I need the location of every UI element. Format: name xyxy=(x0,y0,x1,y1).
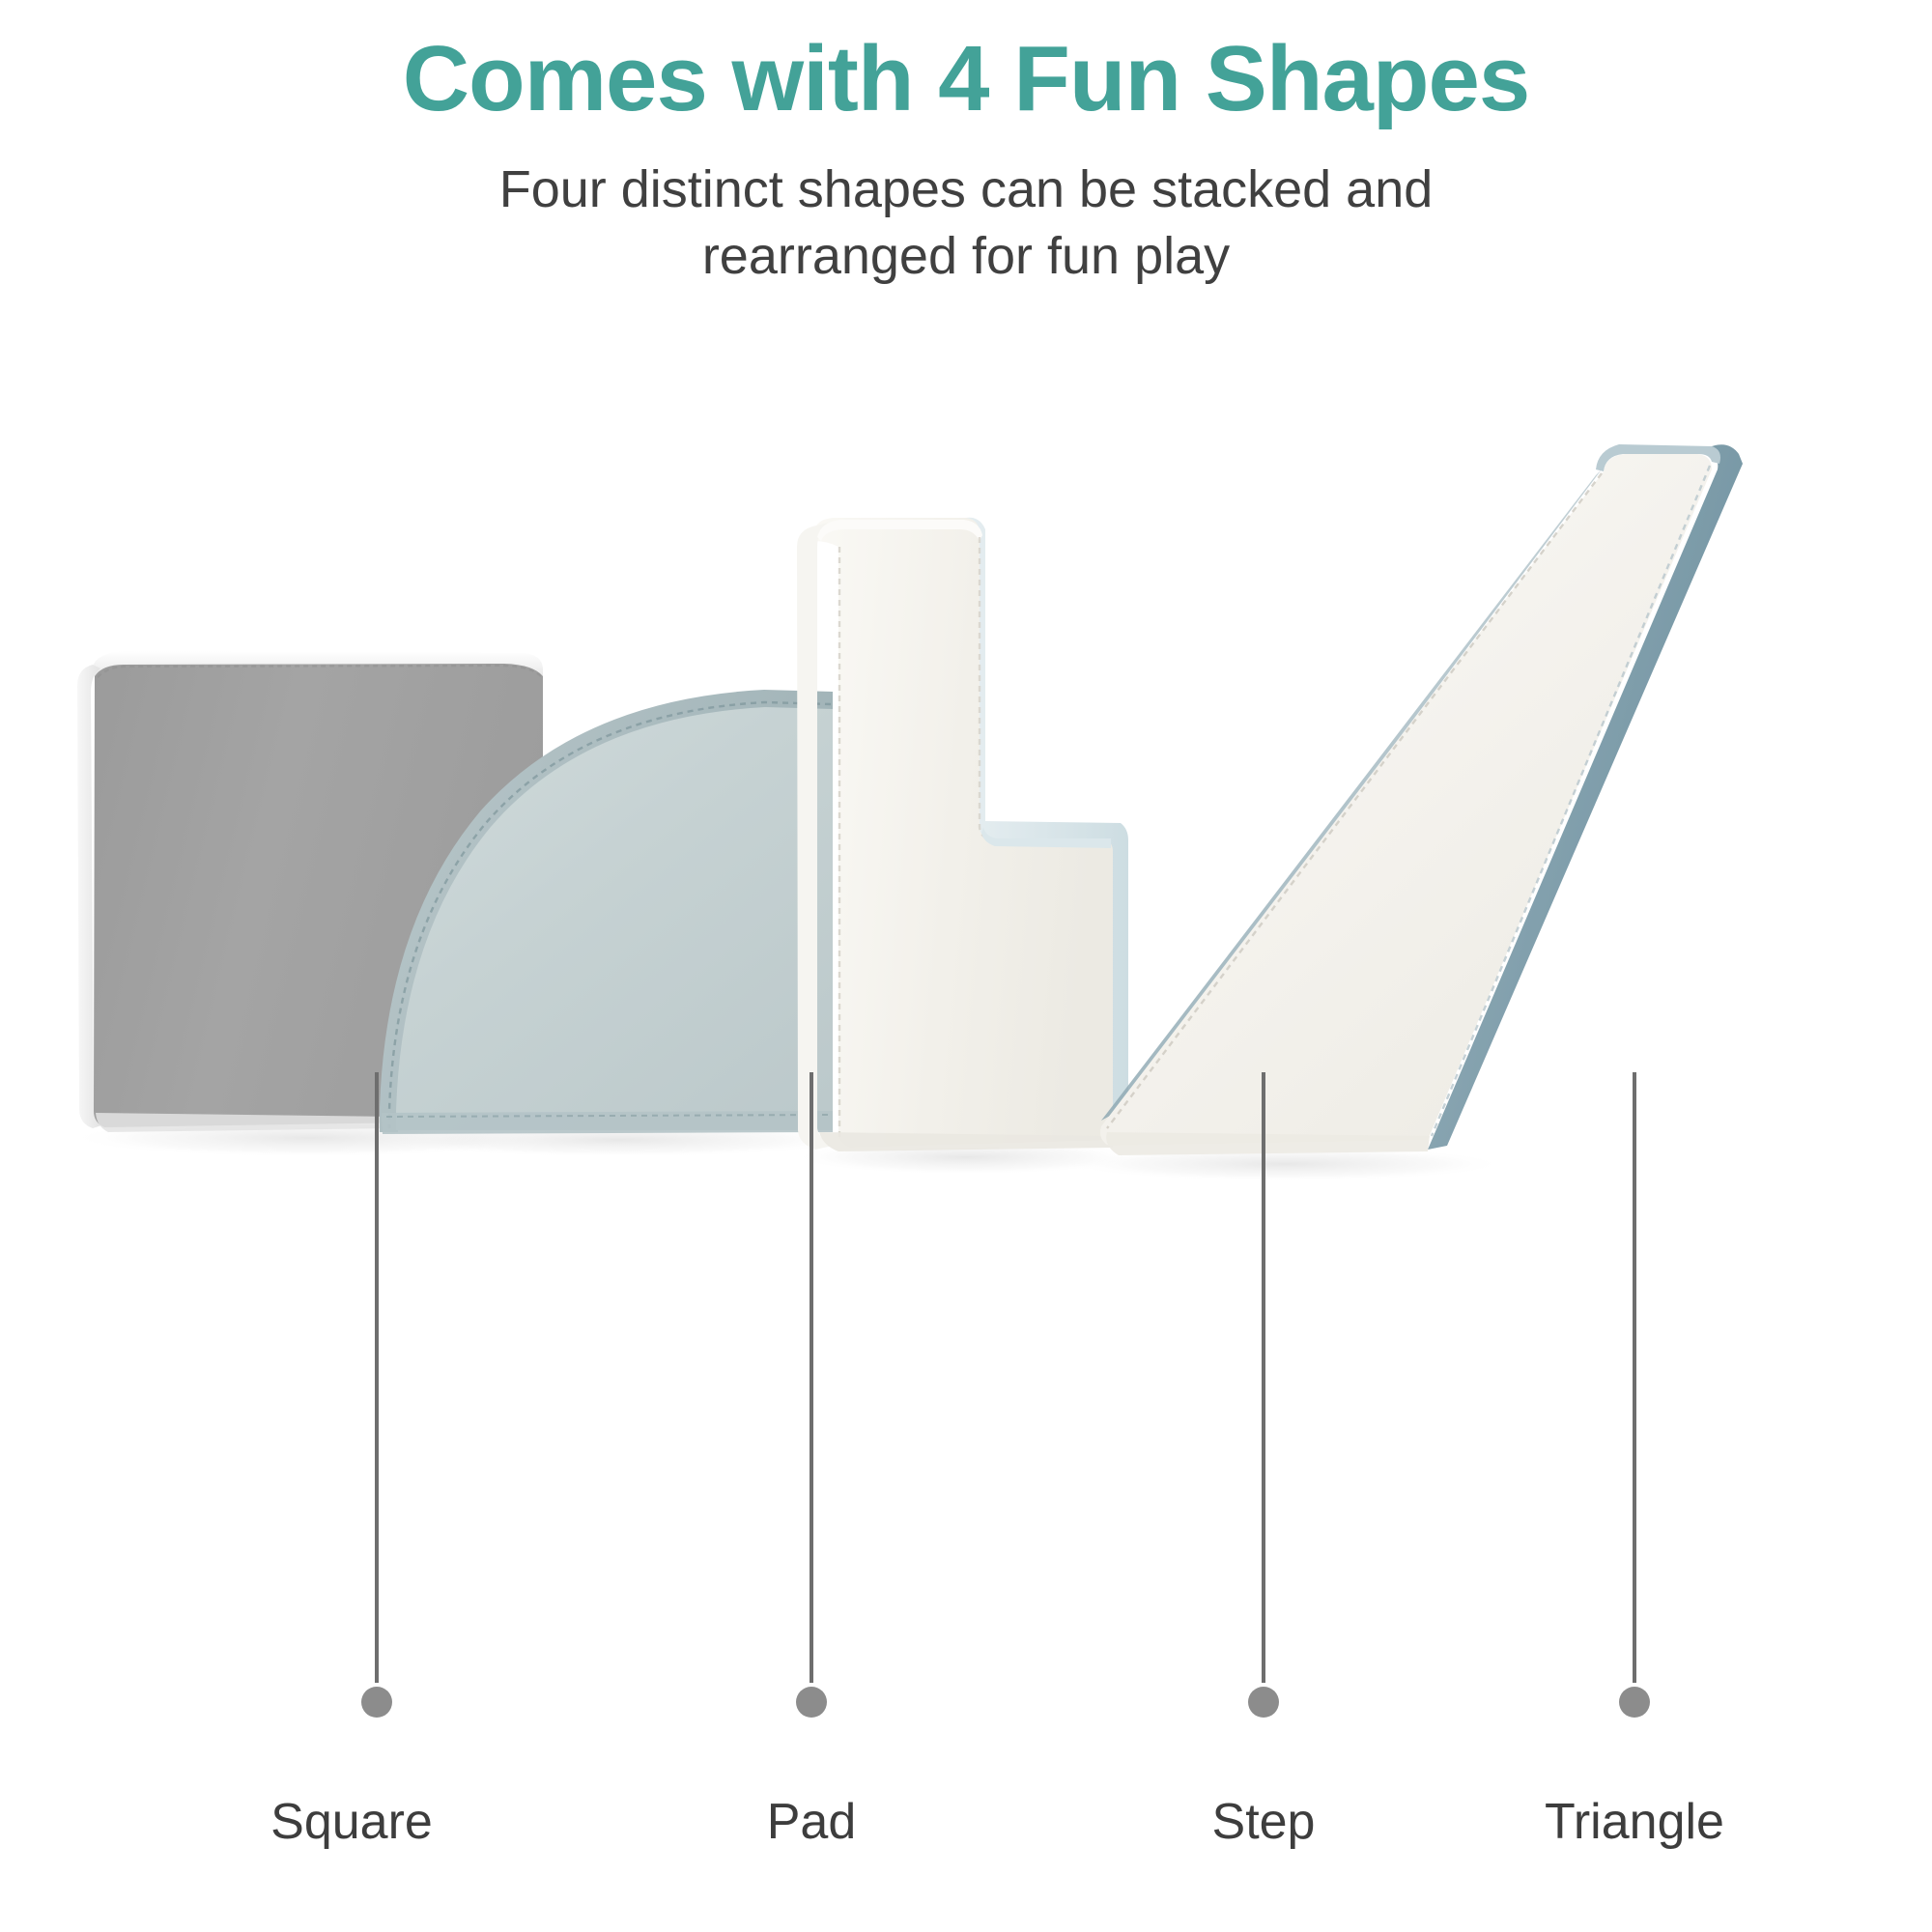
callout-label-triangle: Triangle xyxy=(1545,1793,1724,1851)
leader-dot-pad xyxy=(796,1687,827,1718)
triangle-bottom-hem xyxy=(1106,1132,1430,1155)
pad-bottom-hem xyxy=(382,1111,833,1134)
infographic-page: Comes with 4 Fun Shapes Four distinct sh… xyxy=(0,0,1932,1932)
leader-dot-step xyxy=(1248,1687,1279,1718)
callout-label-pad: Pad xyxy=(767,1793,857,1851)
callout-label-square: Square xyxy=(270,1793,433,1851)
shapes-illustration: Square Pad Step Triangle xyxy=(0,0,1932,1932)
step-notch-seam xyxy=(980,537,1105,840)
shape-step[interactable] xyxy=(797,518,1128,1151)
shape-triangle[interactable] xyxy=(1100,444,1743,1155)
leader-dot-square xyxy=(361,1687,392,1718)
shapes-canvas xyxy=(0,0,1932,1932)
triangle-face xyxy=(1100,454,1712,1146)
callout-label-step: Step xyxy=(1212,1793,1316,1851)
leader-dot-triangle xyxy=(1619,1687,1650,1718)
